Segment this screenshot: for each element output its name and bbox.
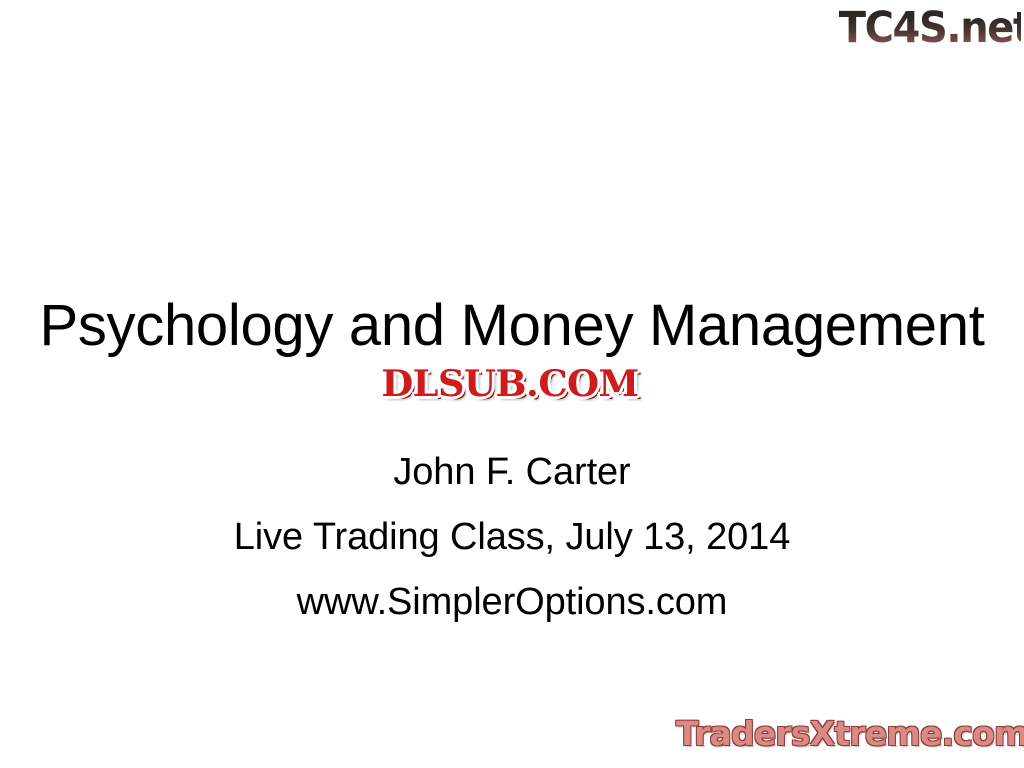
subtitle-line-presenter: John F. Carter [0, 440, 1024, 505]
slide-title: Psychology and Money Management [0, 286, 1024, 365]
dlsub-watermark-logo: DLSUB.COM [363, 362, 657, 406]
presentation-slide: TC4S.net Psychology and Money Management… [0, 0, 1024, 768]
tradersxtreme-watermark-logo: TradersXtreme.com [676, 712, 1020, 756]
tc4s-watermark-logo: TC4S.net [839, 2, 1021, 54]
subtitle-line-event: Live Trading Class, July 13, 2014 [0, 505, 1024, 570]
slide-subtitle: John F. Carter Live Trading Class, July … [0, 440, 1024, 635]
subtitle-line-website: www.SimplerOptions.com [0, 570, 1024, 635]
